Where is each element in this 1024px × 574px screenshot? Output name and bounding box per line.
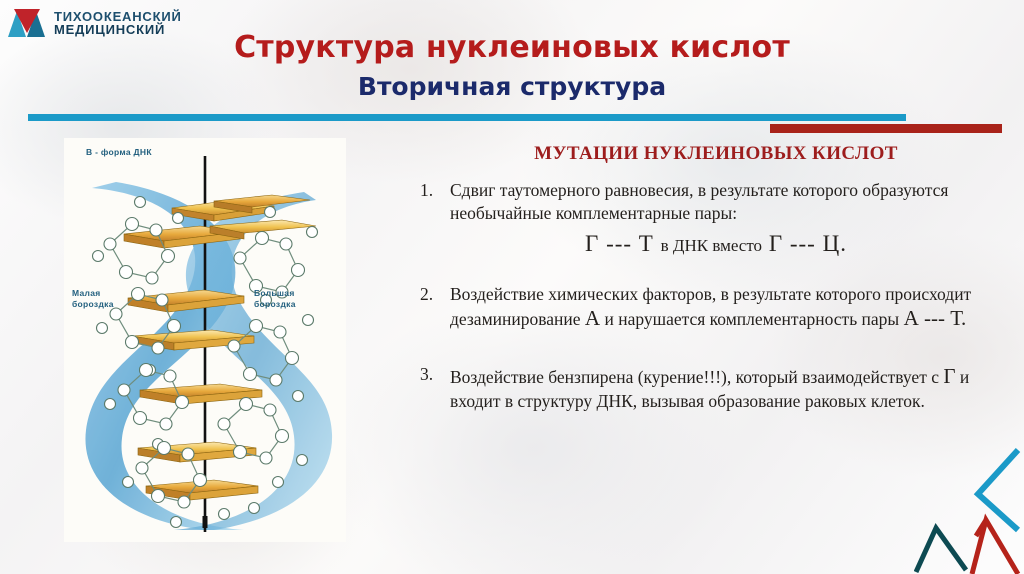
- brand-wordmark: ТИХООКЕАНСКИЙ МЕДИЦИНСКИЙ: [54, 10, 182, 37]
- list-item: 1. Сдвиг таутомерного равновесия, в резу…: [420, 179, 1012, 225]
- brand-line-1: ТИХООКЕАНСКИЙ: [54, 10, 182, 23]
- figure-label-minor-groove: Малая бороздка: [72, 288, 114, 309]
- formula-middle: в ДНК вместо: [661, 236, 762, 255]
- formula-line: Г --- Т в ДНК вместо Г --- Ц.: [420, 231, 1012, 257]
- base-symbol-g: Г: [943, 364, 955, 388]
- slide-subtitle: Вторичная структура: [0, 72, 1024, 101]
- content-heading: МУТАЦИИ НУКЛЕИНОВЫХ КИСЛОТ: [420, 143, 1012, 165]
- dna-illustration-icon: [64, 138, 346, 542]
- divider-cyan: [28, 114, 906, 121]
- formula-right-pair: Г --- Ц.: [769, 231, 847, 256]
- divider-red: [770, 124, 1002, 133]
- base-pair-at: А --- Т.: [904, 306, 967, 330]
- figure-label-major-groove: Большая бороздка: [254, 288, 296, 309]
- list-item-text: Воздействие химических факторов, в резул…: [450, 283, 1012, 333]
- content-column: МУТАЦИИ НУКЛЕИНОВЫХ КИСЛОТ 1. Сдвиг таут…: [420, 143, 1012, 419]
- spacer: [420, 261, 1012, 283]
- brand-line-2: МЕДИЦИНСКИЙ: [54, 23, 182, 36]
- logo-mark-icon: [8, 7, 48, 39]
- list-item: 2. Воздействие химических факторов, в ре…: [420, 283, 1012, 333]
- list-item-number: 2.: [420, 283, 450, 306]
- list-item-text: Воздействие бензпирена (курение!!!), кот…: [450, 363, 1012, 413]
- list-item-text-part1: Воздействие бензпирена (курение!!!), кот…: [450, 367, 943, 387]
- figure-label-b-form: B - форма ДНК: [86, 147, 152, 158]
- list-item-number: 1.: [420, 179, 450, 202]
- base-symbol-a: А: [585, 306, 600, 330]
- list-item-number: 3.: [420, 363, 450, 386]
- spacer: [420, 339, 1012, 363]
- logo-triangle-red-icon: [14, 9, 40, 33]
- list-item-text-part2: и нарушается комплементарность пары: [600, 309, 903, 329]
- list-item-text: Сдвиг таутомерного равновесия, в результ…: [450, 179, 1012, 225]
- brand-logo: ТИХООКЕАНСКИЙ МЕДИЦИНСКИЙ: [8, 5, 223, 41]
- formula-left-pair: Г --- Т: [585, 231, 654, 256]
- dna-double-helix-figure: B - форма ДНК Малая бороздка Большая бор…: [64, 138, 346, 542]
- list-item: 3. Воздействие бензпирена (курение!!!), …: [420, 363, 1012, 413]
